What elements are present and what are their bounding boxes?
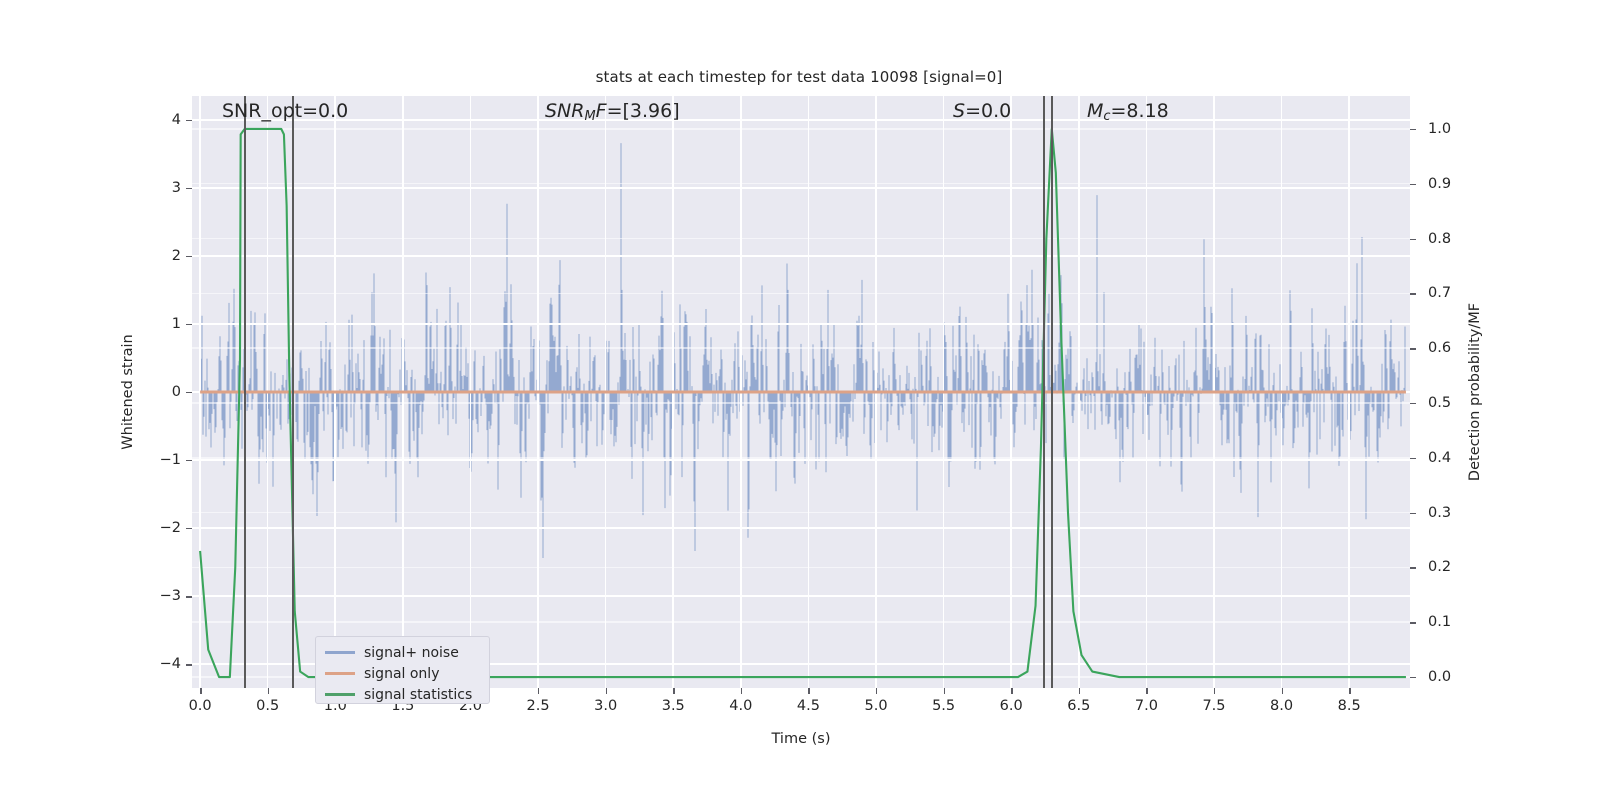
y-tick-right-2 xyxy=(1410,239,1416,240)
y-tick-right-0 xyxy=(1410,129,1416,130)
x-tick-label-6: 3.0 xyxy=(594,698,617,714)
y-tick-right-4 xyxy=(1410,348,1416,349)
y-tick-label-right-0: 1.0 xyxy=(1428,121,1451,137)
legend-swatch-0 xyxy=(325,651,355,653)
legend-item-2: signal statistics xyxy=(316,684,489,705)
y-tick-label-right-5: 0.5 xyxy=(1428,395,1451,411)
x-tick-label-17: 8.5 xyxy=(1338,698,1361,714)
y-tick-right-5 xyxy=(1410,403,1416,404)
x-tick-5 xyxy=(538,688,539,694)
y-tick-label-left-6: −2 xyxy=(160,520,181,536)
legend: signal+ noisesignal onlysignal statistic… xyxy=(315,636,490,704)
x-tick-15 xyxy=(1214,688,1215,694)
y-tick-label-left-8: −4 xyxy=(160,656,181,672)
x-tick-10 xyxy=(876,688,877,694)
y-tick-left-1 xyxy=(186,188,192,189)
y-tick-label-right-3: 0.7 xyxy=(1428,285,1451,301)
y-tick-label-left-4: 0 xyxy=(172,384,181,400)
annotation-mchirp: Mc=8.18 xyxy=(1087,100,1169,124)
x-axis-label: Time (s) xyxy=(772,731,831,747)
y-tick-left-3 xyxy=(186,324,192,325)
x-tick-label-0: 0.0 xyxy=(189,698,212,714)
x-tick-9 xyxy=(808,688,809,694)
x-tick-6 xyxy=(606,688,607,694)
y-tick-right-8 xyxy=(1410,567,1416,568)
x-tick-label-10: 5.0 xyxy=(864,698,887,714)
y-tick-label-right-6: 0.4 xyxy=(1428,450,1451,466)
marker-3 xyxy=(1043,96,1045,688)
legend-label-0: signal+ noise xyxy=(364,645,459,661)
y-tick-label-right-4: 0.6 xyxy=(1428,340,1451,356)
y-tick-label-right-9: 0.1 xyxy=(1428,614,1451,630)
x-tick-11 xyxy=(944,688,945,694)
x-tick-label-1: 0.5 xyxy=(256,698,279,714)
legend-item-1: signal only xyxy=(316,663,489,684)
series-overlay xyxy=(192,96,1410,688)
y-tick-label-right-2: 0.8 xyxy=(1428,231,1451,247)
series-signal-statistics xyxy=(200,129,1406,677)
y-tick-right-6 xyxy=(1410,458,1416,459)
annotation-snr-mf: SNRMF=[3.96] xyxy=(545,100,680,124)
y-tick-label-right-10: 0.0 xyxy=(1428,669,1451,685)
y-tick-left-5 xyxy=(186,460,192,461)
x-tick-16 xyxy=(1282,688,1283,694)
marker-2 xyxy=(292,96,294,688)
x-tick-12 xyxy=(1011,688,1012,694)
y-tick-label-left-3: 1 xyxy=(172,316,181,332)
legend-item-0: signal+ noise xyxy=(316,642,489,663)
y-tick-left-7 xyxy=(186,596,192,597)
y-tick-label-right-8: 0.2 xyxy=(1428,559,1451,575)
annotation-snr-opt: SNR_opt=0.0 xyxy=(222,100,348,122)
marker-1 xyxy=(244,96,246,688)
y-tick-label-left-2: 2 xyxy=(172,248,181,264)
y-axis-right-label: Detection probability/MF xyxy=(1467,303,1483,481)
x-tick-label-14: 7.0 xyxy=(1135,698,1158,714)
legend-label-2: signal statistics xyxy=(364,687,472,703)
legend-label-1: signal only xyxy=(364,666,439,682)
x-tick-label-5: 2.5 xyxy=(527,698,550,714)
y-tick-label-left-7: −3 xyxy=(160,588,181,604)
y-tick-label-right-1: 0.9 xyxy=(1428,176,1451,192)
x-tick-14 xyxy=(1146,688,1147,694)
legend-swatch-2 xyxy=(325,693,355,695)
chart-title: stats at each timestep for test data 100… xyxy=(0,68,1600,86)
y-tick-label-left-0: 4 xyxy=(172,112,181,128)
y-tick-right-9 xyxy=(1410,622,1416,623)
x-tick-label-12: 6.0 xyxy=(1000,698,1023,714)
plot-area xyxy=(192,96,1410,688)
y-tick-left-8 xyxy=(186,664,192,665)
x-tick-label-8: 4.0 xyxy=(729,698,752,714)
x-tick-label-16: 8.0 xyxy=(1270,698,1293,714)
x-tick-7 xyxy=(673,688,674,694)
x-tick-label-11: 5.5 xyxy=(932,698,955,714)
marker-4 xyxy=(1051,96,1053,688)
y-tick-label-left-5: −1 xyxy=(160,452,181,468)
y-tick-left-6 xyxy=(186,528,192,529)
y-tick-label-left-1: 3 xyxy=(172,180,181,196)
figure-canvas: stats at each timestep for test data 100… xyxy=(0,0,1600,800)
x-tick-1 xyxy=(268,688,269,694)
x-tick-label-15: 7.5 xyxy=(1202,698,1225,714)
x-tick-label-7: 3.5 xyxy=(662,698,685,714)
y-tick-right-1 xyxy=(1410,184,1416,185)
annotation-s-stat: S=0.0 xyxy=(953,100,1011,122)
legend-swatch-1 xyxy=(325,672,355,674)
y-tick-right-3 xyxy=(1410,293,1416,294)
y-tick-right-7 xyxy=(1410,513,1416,514)
x-tick-17 xyxy=(1349,688,1350,694)
x-tick-label-13: 6.5 xyxy=(1067,698,1090,714)
y-tick-left-0 xyxy=(186,120,192,121)
y-tick-right-10 xyxy=(1410,677,1416,678)
y-axis-left-label: Whitened strain xyxy=(120,334,136,449)
x-tick-13 xyxy=(1079,688,1080,694)
y-tick-left-2 xyxy=(186,256,192,257)
x-tick-8 xyxy=(741,688,742,694)
y-tick-label-right-7: 0.3 xyxy=(1428,505,1451,521)
x-tick-label-9: 4.5 xyxy=(797,698,820,714)
x-tick-0 xyxy=(200,688,201,694)
y-tick-left-4 xyxy=(186,392,192,393)
